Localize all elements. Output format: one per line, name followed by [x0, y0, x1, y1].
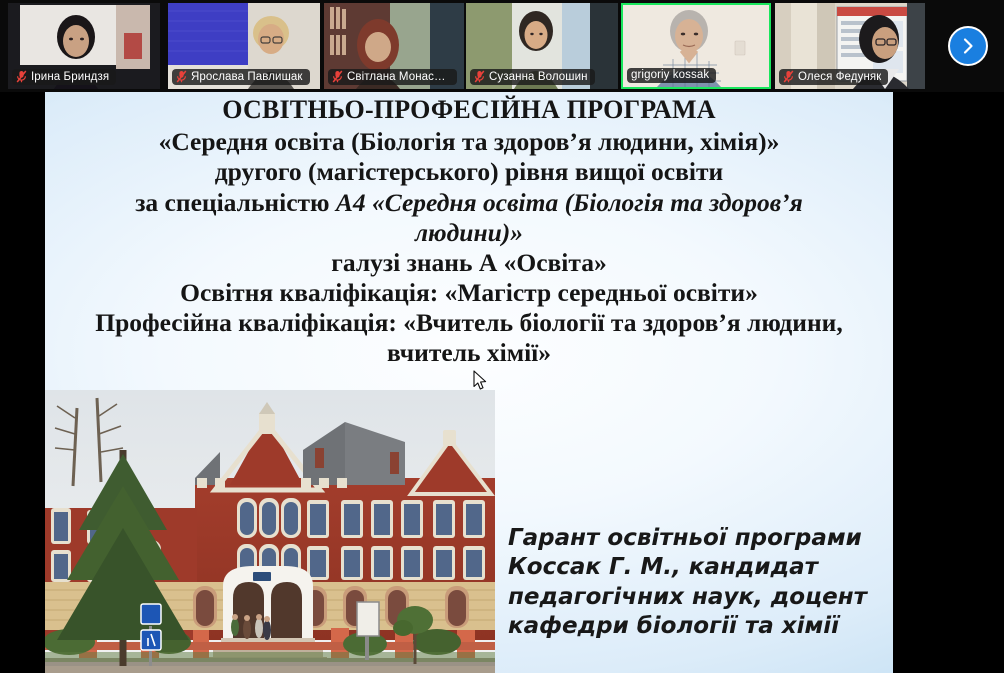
participant-tile[interactable]: Сузанна Волошин	[466, 3, 618, 89]
field-value: А «Освіта»	[479, 248, 607, 277]
participant-tile[interactable]: Ірина Бриндзя	[8, 3, 160, 89]
participant-namebar: Ярослава Павлишак	[172, 69, 310, 85]
participant-name: grigoriy kossak	[631, 69, 709, 81]
presentation-slide[interactable]: ОСВІТНЬО-ПРОФЕСІЙНА ПРОГРАМА «Середня ос…	[45, 92, 893, 673]
participant-namebar: Сузанна Волошин	[470, 69, 595, 85]
participant-name: Світлана Монастирсь…	[347, 71, 450, 83]
participant-tile[interactable]: Ярослава Павлишак	[168, 3, 320, 89]
specialty-value: А4 «Середня освіта (Біологія та здоров’я	[336, 188, 803, 217]
next-participants-button[interactable]	[948, 26, 988, 66]
mic-muted-icon	[783, 70, 794, 83]
participant-tile[interactable]: Олеся Федуняк	[775, 3, 925, 89]
mic-muted-icon	[332, 70, 343, 83]
mic-muted-icon	[16, 70, 27, 83]
guarantor-line-2: Коссак Г. М., кандидат	[508, 553, 880, 582]
mic-muted-icon	[176, 70, 187, 83]
guarantor-line-1: Гарант освітньої програми	[508, 524, 880, 553]
guarantor-line-4: кафедри біології та хімії	[508, 612, 880, 641]
guarantor-line-3: педагогічних наук, доцент	[508, 583, 880, 612]
specialty-value-cont: людини)»	[415, 218, 523, 247]
building-illustration	[45, 390, 495, 673]
slide-field-line: галузі знань А «Освіта»	[45, 249, 893, 276]
field-prefix: галузі знань	[331, 248, 479, 277]
participant-tile[interactable]: Світлана Монастирсь…	[324, 3, 464, 89]
participant-filmstrip: Ірина Бриндзя	[0, 0, 1004, 92]
participant-name: Ірина Бриндзя	[31, 71, 109, 83]
chevron-right-icon	[959, 37, 977, 55]
participant-name: Сузанна Волошин	[489, 71, 588, 83]
shared-screen-stage: ОСВІТНЬО-ПРОФЕСІЙНА ПРОГРАМА «Середня ос…	[0, 92, 1004, 673]
slide-title-line-3: другого (магістерського) рівня вищої осв…	[45, 158, 893, 185]
participant-namebar: grigoriy kossak	[627, 68, 716, 83]
slide-educational-qualification: Освітня кваліфікація: «Магістр середньої…	[45, 279, 893, 306]
specialty-prefix: за спеціальністю	[135, 188, 336, 217]
participant-namebar: Олеся Федуняк	[779, 69, 888, 85]
participant-tile-active-speaker[interactable]: grigoriy kossak	[621, 3, 771, 89]
participant-name: Ярослава Павлишак	[191, 71, 303, 83]
university-building-photo	[45, 390, 495, 673]
slide-professional-qualification-line-2: вчитель хімії»	[45, 339, 893, 366]
slide-title-line-2: «Середня освіта (Біологія та здоров’я лю…	[45, 128, 893, 155]
mic-muted-icon	[474, 70, 485, 83]
participant-namebar: Світлана Монастирсь…	[328, 69, 457, 85]
slide-specialty-line-2: людини)»	[45, 219, 893, 246]
screen-root: Ірина Бриндзя	[0, 0, 1004, 673]
slide-specialty-line-1: за спеціальністю А4 «Середня освіта (Біо…	[45, 189, 893, 216]
slide-title-line-1: ОСВІТНЬО-ПРОФЕСІЙНА ПРОГРАМА	[45, 96, 893, 124]
participant-namebar: Ірина Бриндзя	[12, 69, 116, 85]
slide-professional-qualification-line-1: Професійна кваліфікація: «Вчитель біолог…	[45, 309, 893, 336]
participant-name: Олеся Федуняк	[798, 71, 881, 83]
guarantor-caption: Гарант освітньої програми Коссак Г. М., …	[508, 524, 880, 642]
slide-title-block: ОСВІТНЬО-ПРОФЕСІЙНА ПРОГРАМА «Середня ос…	[45, 96, 893, 366]
